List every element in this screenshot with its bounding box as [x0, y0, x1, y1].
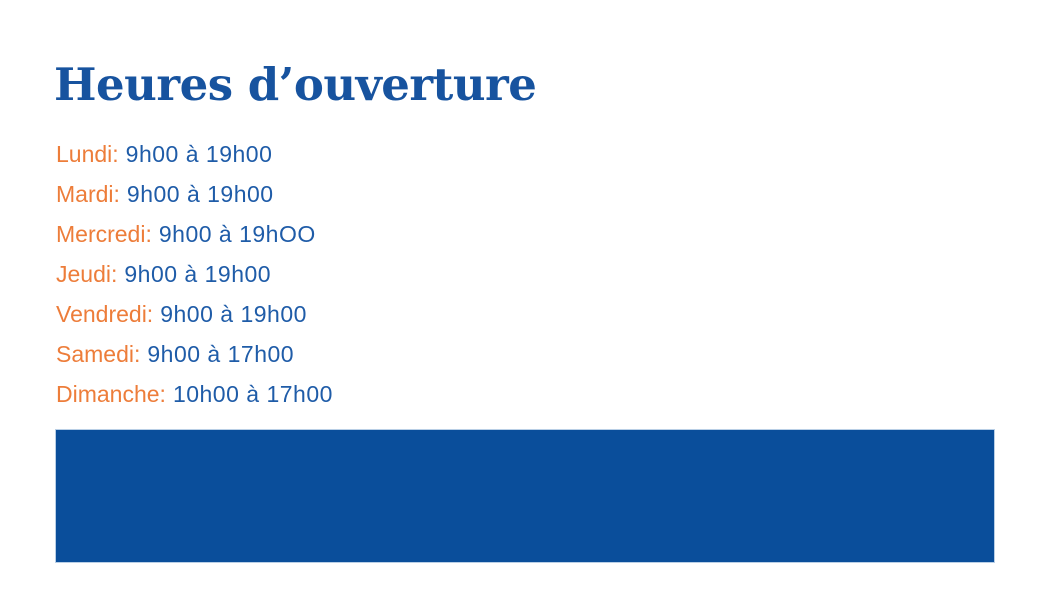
day-hours: 9h00 à 19hOO [159, 221, 316, 247]
slide-canvas: Heures d’ouverture Lundi:9h00 à 19h00 Ma… [0, 0, 1050, 600]
day-label: Mercredi: [56, 221, 152, 247]
day-hours: 9h00 à 19h00 [127, 181, 274, 207]
day-hours: 10h00 à 17h00 [173, 381, 333, 407]
content-placeholder-block [55, 429, 995, 563]
list-item: Vendredi:9h00 à 19h00 [56, 294, 616, 334]
day-hours: 9h00 à 17h00 [147, 341, 294, 367]
day-hours: 9h00 à 19h00 [124, 261, 271, 287]
opening-hours-list: Lundi:9h00 à 19h00 Mardi:9h00 à 19h00 Me… [56, 134, 616, 414]
day-label: Mardi: [56, 181, 120, 207]
day-hours: 9h00 à 19h00 [126, 141, 273, 167]
list-item: Dimanche:10h00 à 17h00 [56, 374, 616, 414]
day-hours: 9h00 à 19h00 [160, 301, 307, 327]
day-label: Samedi: [56, 341, 140, 367]
day-label: Vendredi: [56, 301, 153, 327]
list-item: Mardi:9h00 à 19h00 [56, 174, 616, 214]
day-label: Dimanche: [56, 381, 166, 407]
page-title: Heures d’ouverture [54, 58, 536, 112]
day-label: Lundi: [56, 141, 119, 167]
list-item: Mercredi:9h00 à 19hOO [56, 214, 616, 254]
list-item: Samedi:9h00 à 17h00 [56, 334, 616, 374]
day-label: Jeudi: [56, 261, 117, 287]
list-item: Lundi:9h00 à 19h00 [56, 134, 616, 174]
list-item: Jeudi:9h00 à 19h00 [56, 254, 616, 294]
